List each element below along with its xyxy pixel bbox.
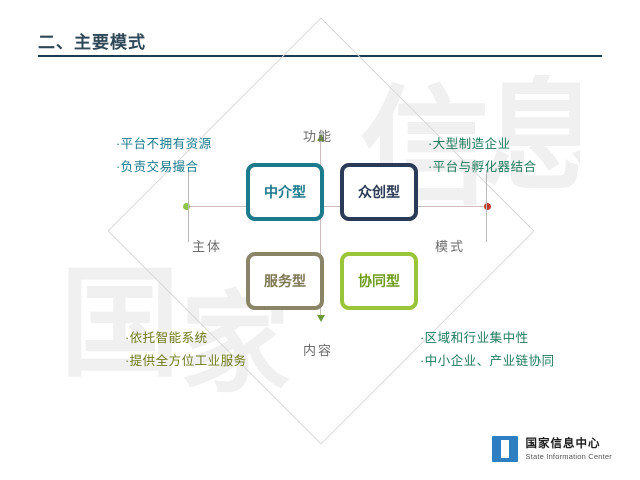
node-box-intermediary[interactable]: 中介型 (246, 163, 324, 221)
node-box-crowd-innovation[interactable]: 众创型 (340, 163, 418, 221)
connector-tick-bottom-left (188, 206, 189, 242)
footer-logo: 国家信息中心 State Information Center (492, 436, 612, 462)
horizontal-axis (186, 206, 490, 207)
connector-tick-bottom-right (486, 206, 487, 242)
axis-label-left: 主体 (192, 236, 222, 255)
annotation-line: ·依托智能系统 (125, 327, 247, 350)
annotation-line: ·提供全方位工业服务 (125, 350, 247, 373)
annotation-line: ·负责交易撮合 (116, 156, 212, 179)
annotation-line: ·平台不拥有资源 (116, 133, 212, 156)
annotation-bottom-right: ·区域和行业集中性 ·中小企业、产业链协同 (420, 327, 555, 373)
diamond-frame (107, 17, 534, 444)
annotation-line: ·平台与孵化器结合 (428, 156, 537, 179)
annotation-top-left: ·平台不拥有资源 ·负责交易撮合 (116, 133, 212, 179)
state-information-center-logo-icon (492, 436, 518, 462)
page-title: 二、主要模式 (38, 28, 146, 53)
logo-name-cn: 国家信息中心 (525, 437, 612, 451)
annotation-line: ·区域和行业集中性 (420, 327, 555, 350)
annotation-line: ·大型制造企业 (428, 133, 537, 156)
axis-label-top: 功能 (303, 126, 333, 145)
node-box-collaborative[interactable]: 协同型 (340, 252, 418, 310)
axis-label-right: 模式 (435, 236, 465, 255)
arrow-down-icon (317, 315, 325, 322)
logo-name-en: State Information Center (525, 452, 612, 461)
axis-label-bottom: 内容 (303, 340, 333, 359)
node-box-service[interactable]: 服务型 (246, 252, 324, 310)
annotation-line: ·中小企业、产业链协同 (420, 350, 555, 373)
annotation-top-right: ·大型制造企业 ·平台与孵化器结合 (428, 133, 537, 179)
annotation-bottom-left: ·依托智能系统 ·提供全方位工业服务 (125, 327, 247, 373)
logo-text: 国家信息中心 State Information Center (525, 437, 612, 461)
